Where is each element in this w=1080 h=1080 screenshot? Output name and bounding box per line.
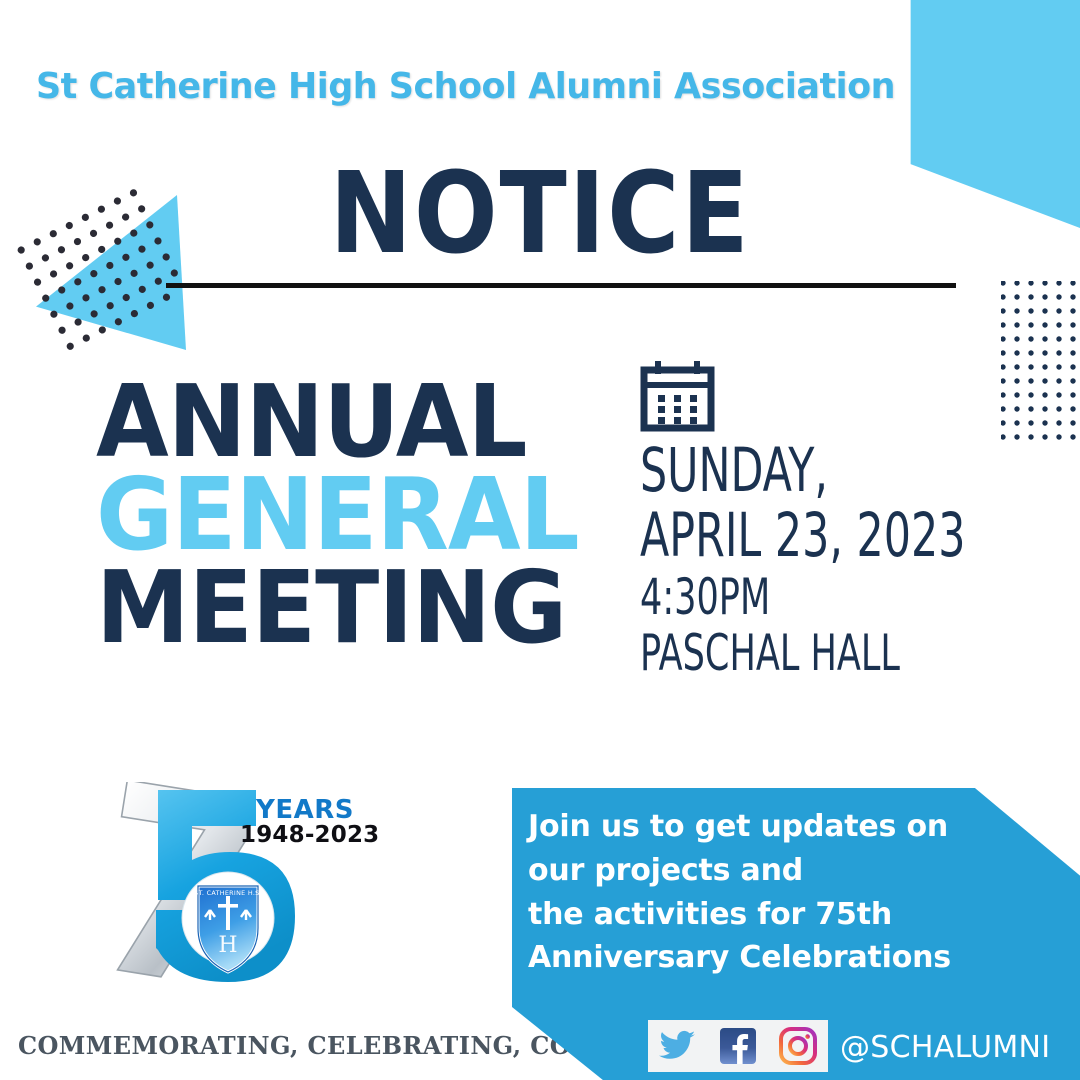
headline-line-general: GENERAL xyxy=(96,468,579,561)
cta-message: Join us to get updates on our projects a… xyxy=(528,805,978,980)
event-details-block: SUNDAY, APRIL 23, 2023 4:30PM PASCHAL HA… xyxy=(640,360,1057,681)
calendar-icon xyxy=(640,360,715,432)
instagram-icon[interactable] xyxy=(778,1026,818,1066)
event-headline: ANNUAL GENERAL MEETING xyxy=(96,375,579,654)
crest-monogram: H xyxy=(218,933,237,958)
facebook-icon[interactable] xyxy=(718,1026,758,1066)
cta-line-2: our projects and xyxy=(528,849,978,893)
event-date: APRIL 23, 2023 xyxy=(640,503,965,568)
title-divider xyxy=(166,283,956,288)
poster-canvas: St Catherine High School Alumni Associat… xyxy=(0,0,1080,1080)
cta-line-1: Join us to get updates on xyxy=(528,805,978,849)
event-day: SUNDAY, xyxy=(640,438,965,503)
social-icons-strip xyxy=(648,1020,828,1072)
page-title: NOTICE xyxy=(38,148,1042,278)
twitter-icon[interactable] xyxy=(658,1026,698,1066)
anniversary-logo-graphic: YEARS 1948-2023 H ST. CATHERINE H.S. xyxy=(110,782,450,1027)
crest-school-name: ST. CATHERINE H.S. xyxy=(194,889,262,897)
event-details-text: SUNDAY, APRIL 23, 2023 4:30PM PASCHAL HA… xyxy=(640,438,965,681)
cta-line-3: the activities for 75th xyxy=(528,893,978,937)
social-handle: @SCHALUMNI xyxy=(840,1030,1050,1065)
cta-line-4: Anniversary Celebrations xyxy=(528,936,978,980)
event-time: 4:30PM xyxy=(640,569,965,625)
headline-line-meeting: MEETING xyxy=(96,561,579,654)
logo-year-range: 1948-2023 xyxy=(240,822,379,848)
association-title: St Catherine High School Alumni Associat… xyxy=(36,66,895,107)
headline-line-annual: ANNUAL xyxy=(96,375,579,468)
event-venue: PASCHAL HALL xyxy=(640,625,965,681)
anniversary-logo: YEARS 1948-2023 H ST. CATHERINE H.S. xyxy=(110,782,450,1027)
logo-years-label: YEARS xyxy=(255,795,354,825)
